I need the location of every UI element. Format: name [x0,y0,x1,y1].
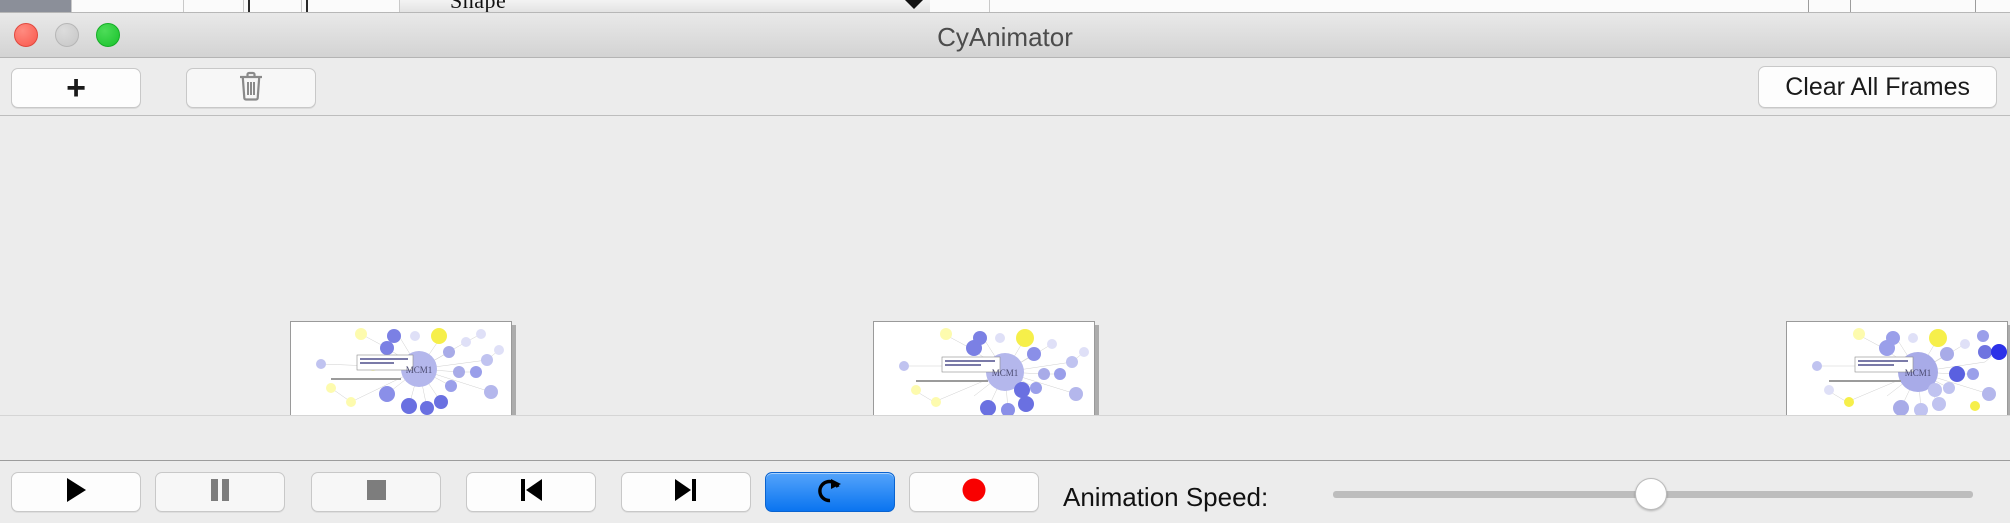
network-thumbnail-graph: MCM1 [874,322,1094,416]
loop-button[interactable] [765,472,895,512]
frame-toolbar: + Clear All Frames [0,58,2010,116]
play-button[interactable] [11,472,141,512]
bg-divider [1850,0,1851,13]
record-button[interactable] [909,472,1039,512]
bg-seg [0,0,72,13]
timeline-frame-thumbnail[interactable]: MCM1 [873,321,1095,416]
bg-divider [248,0,250,13]
trash-icon [238,71,264,106]
pause-button[interactable] [155,472,285,512]
skip-previous-icon [518,477,544,508]
network-thumbnail-graph: MCM1 [291,322,511,416]
animation-speed-label: Animation Speed: [1063,482,1268,513]
bg-seg [244,0,302,13]
animation-speed-slider[interactable] [1333,491,1973,499]
loop-refresh-icon [815,475,845,510]
skip-to-end-button[interactable] [621,472,751,512]
clear-all-frames-label: Clear All Frames [1785,73,1970,102]
record-dot-icon [960,476,988,509]
window-titlebar: CyAnimator [0,13,2010,58]
network-thumbnail-graph: MCM1 [1787,322,2007,416]
background-window-strip: Shape [0,0,2010,13]
svg-text:MCM1: MCM1 [1905,368,1932,378]
bg-divider [306,0,308,13]
bg-divider [1808,0,1809,13]
bg-divider [1975,0,1976,13]
svg-text:MCM1: MCM1 [992,368,1019,378]
playback-control-bar: Animation Speed: [0,460,2010,523]
skip-next-icon [673,477,699,508]
timeline-frame-thumbnail[interactable]: MCM1 [1786,321,2008,416]
bg-seg [930,0,990,13]
play-icon [64,477,88,508]
stop-icon [364,477,388,508]
window-title: CyAnimator [0,22,2010,53]
bg-notch-icon [905,0,923,9]
pause-icon [208,477,232,508]
timeline-panel[interactable]: MCM1 [0,116,2010,416]
bg-window-label: Shape [450,0,506,13]
delete-frame-button[interactable] [186,68,316,108]
svg-text:MCM1: MCM1 [406,365,433,375]
bg-seg [990,0,2010,13]
bg-seg [72,0,184,13]
animation-speed-thumb[interactable] [1635,478,1667,510]
bg-seg [184,0,244,13]
stop-button[interactable] [311,472,441,512]
cyanimator-window: CyAnimator + Clear All Frames [0,13,2010,510]
plus-icon: + [66,74,86,102]
skip-to-start-button[interactable] [466,472,596,512]
bg-seg [302,0,400,13]
timeline-frame-thumbnail[interactable]: MCM1 [290,321,512,416]
add-frame-button[interactable]: + [11,68,141,108]
clear-all-frames-button[interactable]: Clear All Frames [1758,66,1997,108]
